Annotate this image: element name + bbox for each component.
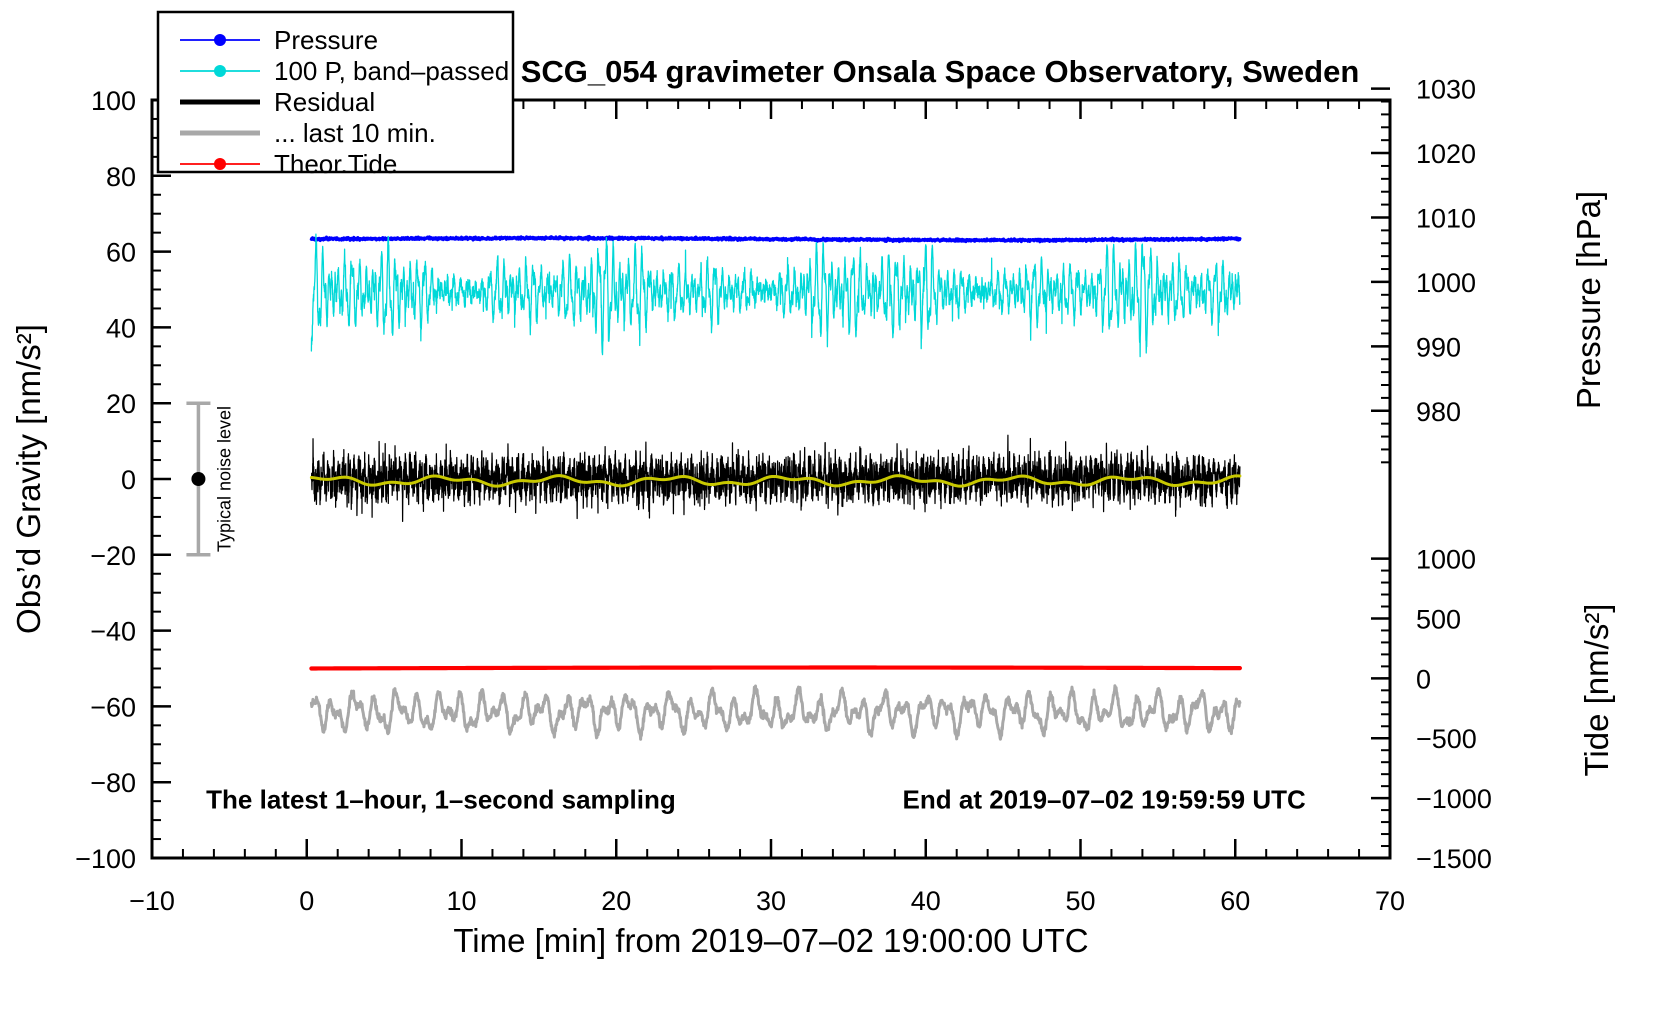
legend-marker-dot xyxy=(214,65,226,77)
tide-tick-label: −1500 xyxy=(1416,844,1492,874)
noise-level-label: Typical noise level xyxy=(214,406,234,552)
y-tick-label: 40 xyxy=(106,313,136,343)
legend-label: 100 P, band–passed xyxy=(274,56,509,86)
x-tick-label: −10 xyxy=(129,886,175,916)
legend-marker-dot xyxy=(214,34,226,46)
pressure-axis-title: Pressure [hPa] xyxy=(1570,191,1607,409)
legend-label: Pressure xyxy=(274,25,378,55)
x-axis-title: Time [min] from 2019–07–02 19:00:00 UTC xyxy=(453,922,1088,959)
y-tick-label: 100 xyxy=(91,86,136,116)
x-tick-label: 60 xyxy=(1220,886,1250,916)
pressure-tick-label: 1000 xyxy=(1416,268,1476,298)
pressure-tick-label: 1030 xyxy=(1416,75,1476,105)
tide-axis-title: Tide [nm/s²] xyxy=(1578,604,1615,777)
x-tick-label: 50 xyxy=(1065,886,1095,916)
legend-label: Theor.Tide xyxy=(274,149,397,179)
tide-tick-label: 500 xyxy=(1416,604,1461,634)
legend-label: Residual xyxy=(274,87,375,117)
y-tick-label: −100 xyxy=(75,844,136,874)
series-theoretical-tide xyxy=(311,668,1240,669)
y-tick-label: −60 xyxy=(90,692,136,722)
tide-tick-label: −1000 xyxy=(1416,784,1492,814)
tide-tick-label: 1000 xyxy=(1416,545,1476,575)
x-tick-label: 70 xyxy=(1375,886,1405,916)
pressure-tick-label: 1010 xyxy=(1416,203,1476,233)
gravimeter-chart-page: −10010203040506070−100−80−60−40−20020406… xyxy=(0,0,1660,1020)
noise-level-center-dot xyxy=(191,472,205,486)
x-tick-label: 0 xyxy=(299,886,314,916)
pressure-tick-label: 980 xyxy=(1416,397,1461,427)
y-tick-label: 80 xyxy=(106,162,136,192)
chart-title: SCG_054 gravimeter Onsala Space Observat… xyxy=(521,54,1360,89)
y-tick-label: −80 xyxy=(90,768,136,798)
x-tick-label: 20 xyxy=(601,886,631,916)
y-tick-label: 20 xyxy=(106,389,136,419)
x-tick-label: 10 xyxy=(446,886,476,916)
legend-marker-dot xyxy=(214,158,226,170)
end-time-note: End at 2019–07–02 19:59:59 UTC xyxy=(903,785,1306,815)
y-tick-label: −40 xyxy=(90,617,136,647)
y-tick-label: 0 xyxy=(121,465,136,495)
pressure-tick-label: 990 xyxy=(1416,332,1461,362)
tide-tick-label: 0 xyxy=(1416,664,1431,694)
x-tick-label: 30 xyxy=(756,886,786,916)
x-tick-label: 40 xyxy=(911,886,941,916)
y-tick-label: −20 xyxy=(90,541,136,571)
y-axis-title: Obs’d Gravity [nm/s²] xyxy=(10,324,47,634)
sampling-note: The latest 1–hour, 1–second sampling xyxy=(206,785,676,815)
legend-label: ... last 10 min. xyxy=(274,118,436,148)
y-tick-label: 60 xyxy=(106,238,136,268)
pressure-tick-label: 1020 xyxy=(1416,139,1476,169)
gravimeter-timeseries-chart: −10010203040506070−100−80−60−40−20020406… xyxy=(0,0,1660,1020)
tide-tick-label: −500 xyxy=(1416,724,1477,754)
